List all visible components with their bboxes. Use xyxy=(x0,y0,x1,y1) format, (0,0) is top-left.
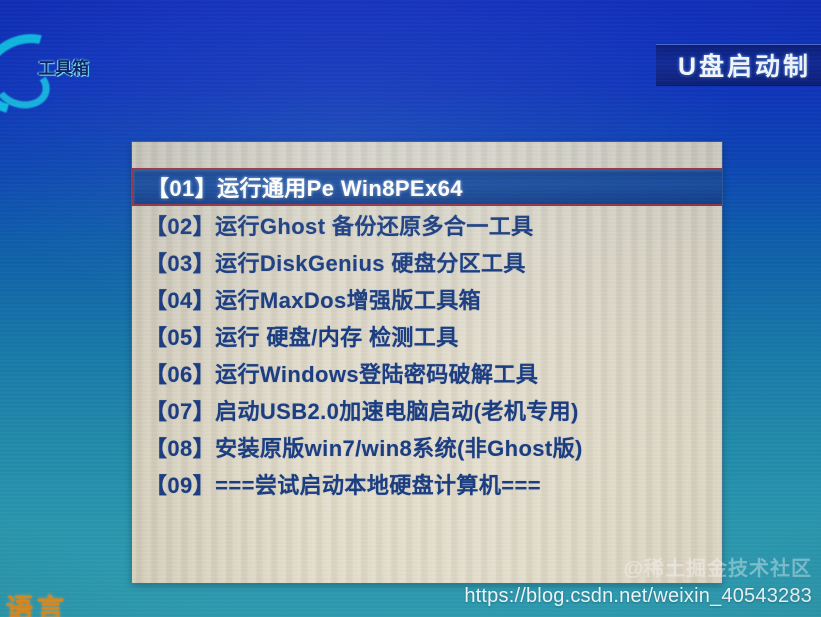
boot-menu-panel: 【01】运行通用Pe Win8PEx64【02】运行Ghost 备份还原多合一工… xyxy=(132,142,722,583)
menu-item-03[interactable]: 【03】运行DiskGenius 硬盘分区工具 xyxy=(132,243,722,280)
menu-top-spacer xyxy=(132,142,722,168)
menu-item-05[interactable]: 【05】运行 硬盘/内存 检测工具 xyxy=(132,317,722,354)
title-banner: U盘启动制 xyxy=(656,44,821,86)
language-label[interactable]: 语言 xyxy=(6,587,68,617)
menu-item-label: 【03】运行DiskGenius 硬盘分区工具 xyxy=(145,246,526,278)
menu-item-label: 【01】运行通用Pe Win8PEx64 xyxy=(147,171,463,203)
menu-item-label: 【02】运行Ghost 备份还原多合一工具 xyxy=(145,209,534,241)
logo-label: 工具箱 xyxy=(38,54,89,79)
menu-item-label: 【09】===尝试启动本地硬盘计算机=== xyxy=(145,468,541,500)
menu-item-label: 【05】运行 硬盘/内存 检测工具 xyxy=(145,320,459,352)
menu-item-label: 【08】安装原版win7/win8系统(非Ghost版) xyxy=(145,431,583,463)
boot-menu-screen: 工具箱 U盘启动制 【01】运行通用Pe Win8PEx64【02】运行Ghos… xyxy=(0,0,821,617)
menu-item-label: 【04】运行MaxDos增强版工具箱 xyxy=(145,283,481,315)
brand-logo: 工具箱 xyxy=(0,34,110,96)
menu-item-04[interactable]: 【04】运行MaxDos增强版工具箱 xyxy=(132,280,722,317)
watermark-csdn: https://blog.csdn.net/weixin_40543283 xyxy=(464,585,812,608)
menu-item-08[interactable]: 【08】安装原版win7/win8系统(非Ghost版) xyxy=(132,428,722,465)
banner-title: U盘启动制 xyxy=(678,47,811,83)
menu-item-09[interactable]: 【09】===尝试启动本地硬盘计算机=== xyxy=(132,465,722,502)
menu-item-01[interactable]: 【01】运行通用Pe Win8PEx64 xyxy=(132,168,722,206)
menu-item-label: 【07】启动USB2.0加速电脑启动(老机专用) xyxy=(145,394,579,426)
menu-item-02[interactable]: 【02】运行Ghost 备份还原多合一工具 xyxy=(132,206,722,243)
menu-item-07[interactable]: 【07】启动USB2.0加速电脑启动(老机专用) xyxy=(132,391,722,428)
menu-item-06[interactable]: 【06】运行Windows登陆密码破解工具 xyxy=(132,354,722,391)
watermark-juejin: @稀土掘金技术社区 xyxy=(623,552,812,581)
menu-item-label: 【06】运行Windows登陆密码破解工具 xyxy=(145,357,538,389)
boot-menu-list: 【01】运行通用Pe Win8PEx64【02】运行Ghost 备份还原多合一工… xyxy=(132,142,722,502)
